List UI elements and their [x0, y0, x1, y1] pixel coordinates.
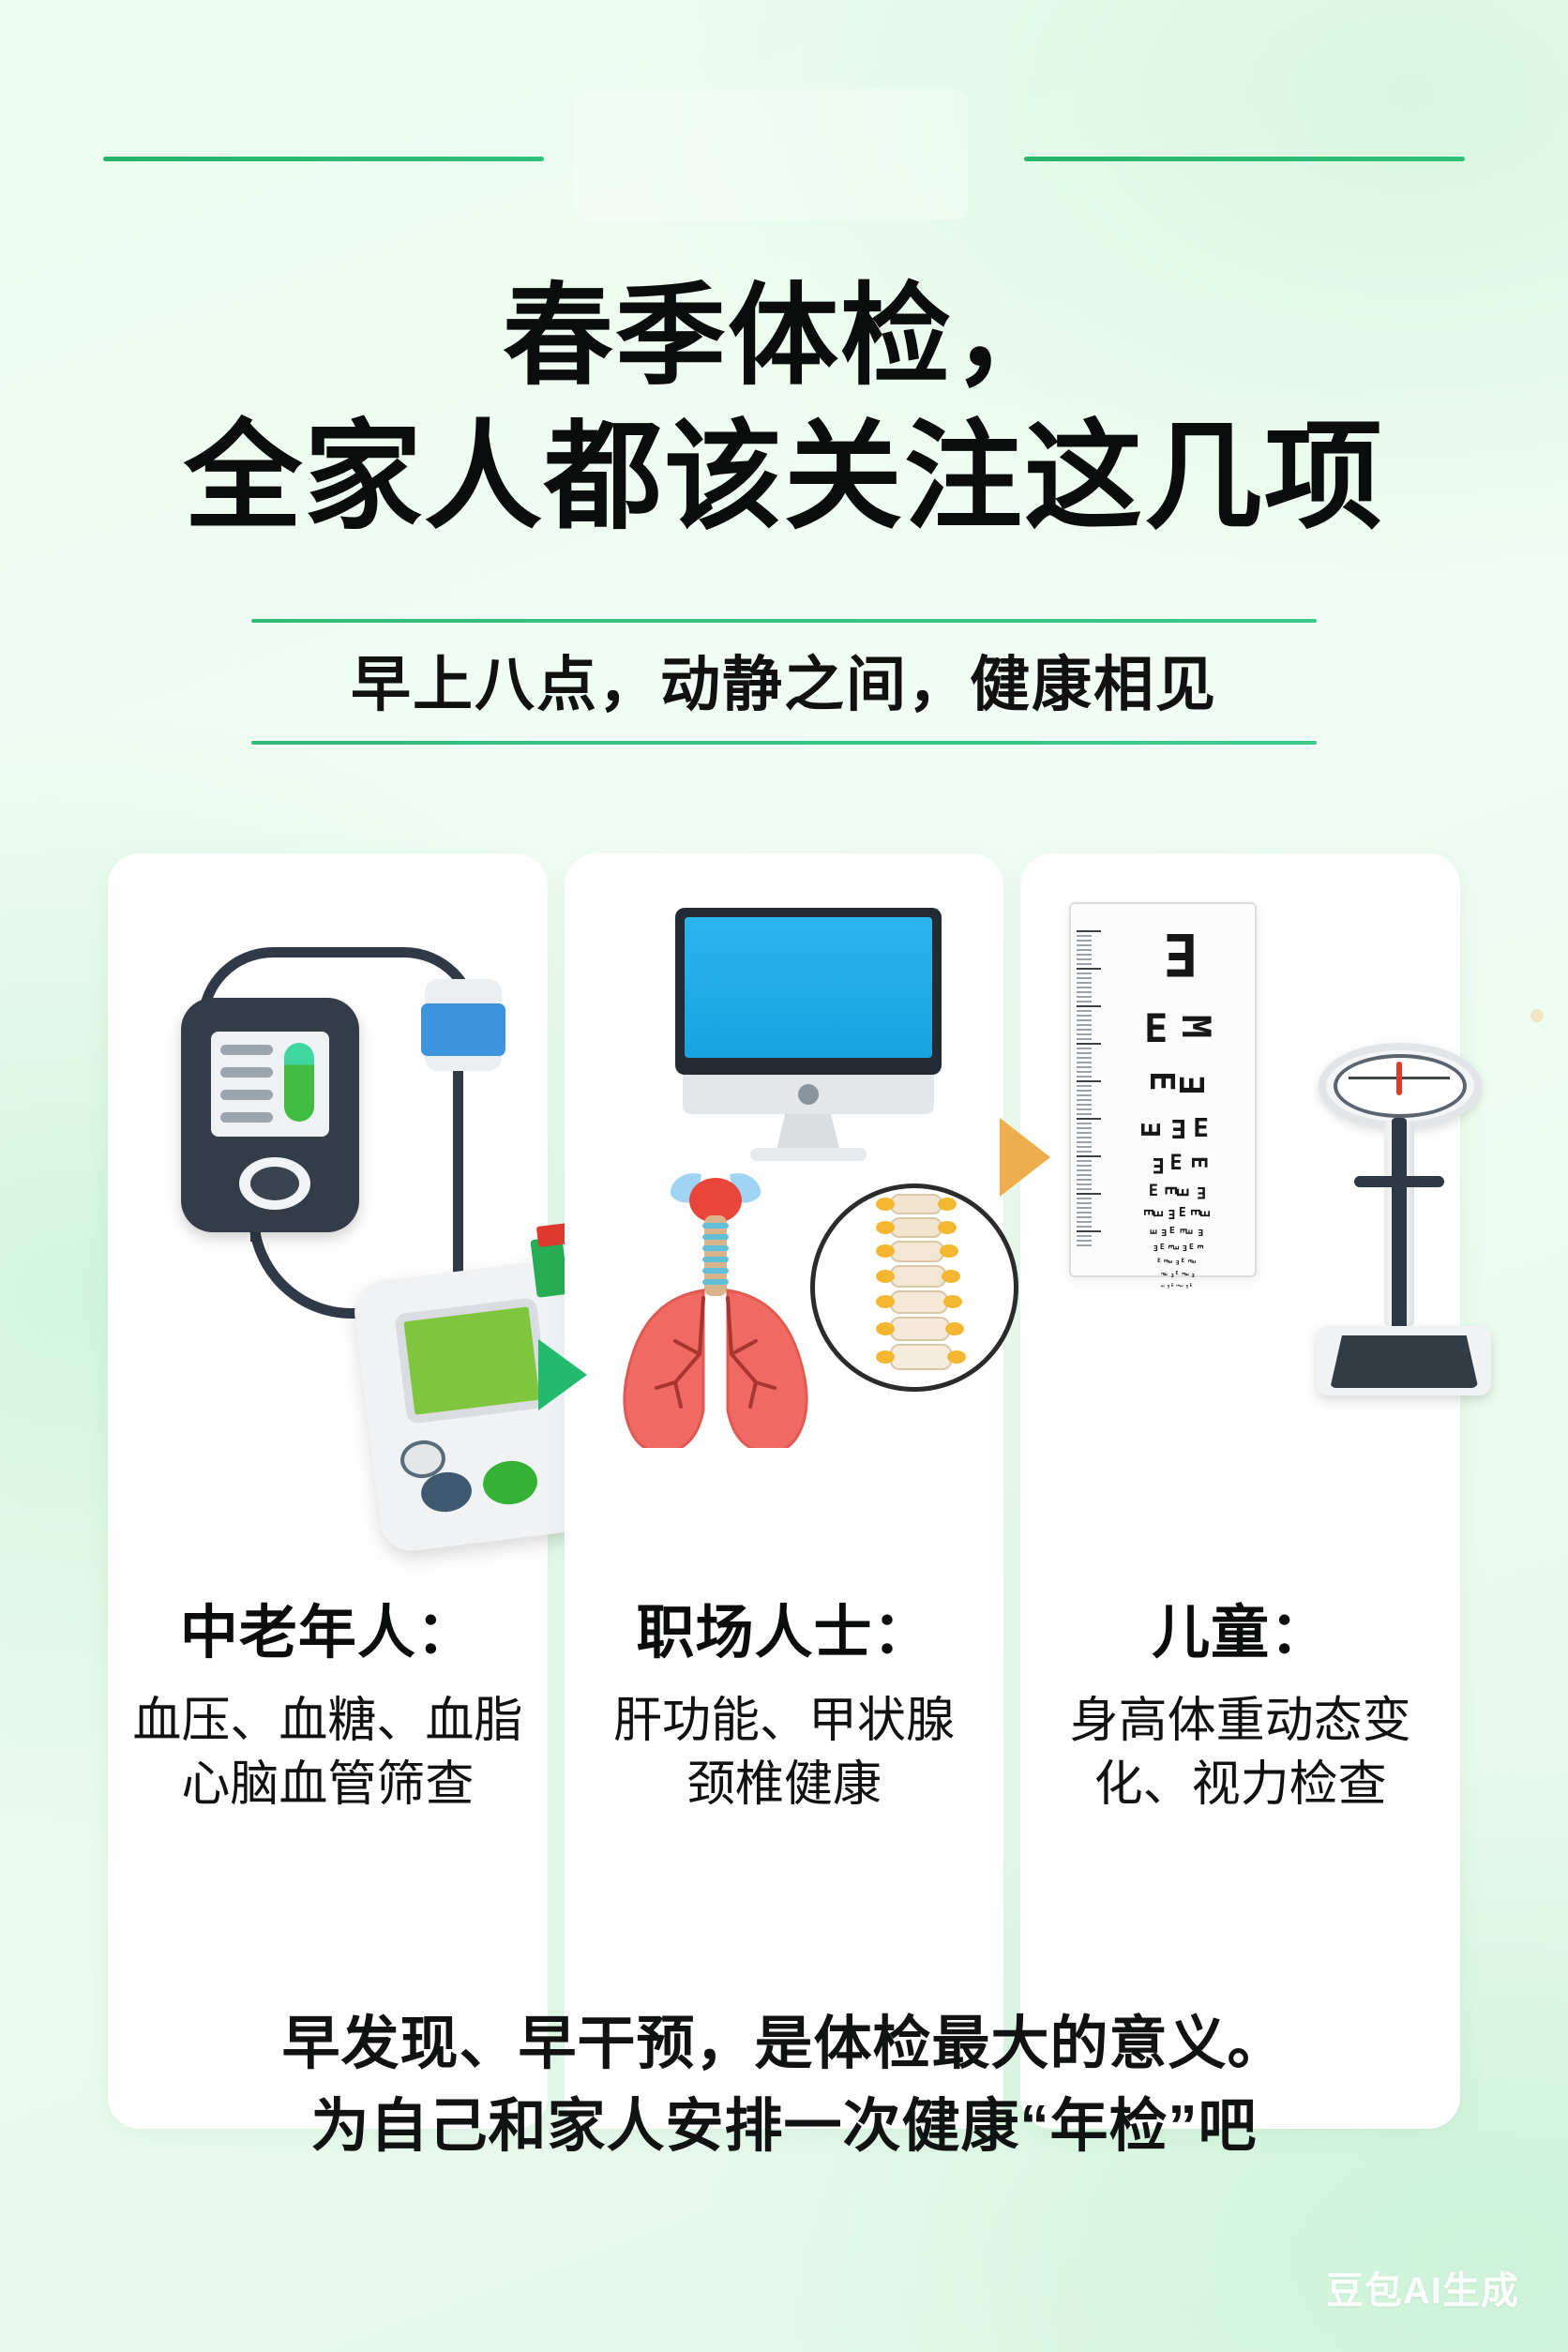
- scale-rod-icon: [1392, 1118, 1407, 1334]
- monitor-stand-icon: [776, 1114, 840, 1152]
- spine-icon: [846, 1193, 987, 1385]
- card-children-body-line-2: 化、视力检查: [1070, 1754, 1411, 1817]
- eye-chart-row: EM: [1107, 1009, 1247, 1048]
- decorative-dot: [1530, 1009, 1544, 1022]
- bp-reading-line-1-icon: [220, 1045, 273, 1055]
- footer-text: 早发现、早干预，是体检最大的意义。 为自己和家人安排一次健康“年检”吧: [0, 2003, 1568, 2168]
- title-line-2: 全家人都该关注这几项: [0, 405, 1568, 550]
- card-row: 中老年人： 血压、血糖、血脂 心脑血管筛查: [108, 853, 1460, 2129]
- card-children-body: 身高体重动态变 化、视力检查: [1055, 1690, 1426, 1817]
- bp-cuff-band-icon: [421, 1003, 505, 1056]
- eye-chart-row: EEEEEEE: [1107, 1244, 1247, 1251]
- monitor-base-icon: [750, 1148, 867, 1161]
- card-office-workers[interactable]: 职场人士： 肝功能、甲状腺 颈椎健康: [565, 853, 1004, 2129]
- eye-chart-row: EEEE: [1107, 1184, 1247, 1199]
- page-title: 春季体检， 全家人都该关注这几项: [0, 270, 1568, 550]
- scale-crossbar-icon: [1354, 1176, 1444, 1187]
- poster-root: 春季体检， 全家人都该关注这几项 早上八点，动静之间，健康相见: [0, 0, 1568, 2352]
- eye-chart-row: EEEEEE: [1107, 1227, 1247, 1236]
- eye-chart-row: EEEEEE: [1107, 1207, 1247, 1219]
- eye-chart-row: EE: [1107, 1066, 1247, 1100]
- lungs-icon: [598, 1167, 833, 1448]
- card-seniors-body: 血压、血糖、血脂 心脑血管筛查: [117, 1690, 537, 1817]
- card-seniors-artwork: [108, 867, 548, 1607]
- card-seniors-body-line-1: 血压、血糖、血脂: [132, 1690, 522, 1754]
- eye-chart-row: EEE: [1107, 1153, 1247, 1174]
- monitor-logo-icon: [798, 1084, 819, 1105]
- card-seniors-body-line-2: 心脑血管筛查: [132, 1754, 522, 1817]
- title-line-1: 春季体检，: [503, 275, 1065, 399]
- subtitle-text: 早上八点，动静之间，健康相见: [251, 623, 1317, 741]
- bp-reading-line-4-icon: [220, 1112, 273, 1123]
- card-office-workers-body: 肝功能、甲状腺 颈椎健康: [598, 1690, 970, 1817]
- card-children-body-line-1: 身高体重动态变: [1070, 1690, 1411, 1754]
- bp-reading-line-2-icon: [220, 1067, 273, 1078]
- card-children-artwork: EEMEEEEEEEEEEEEEEEEEEEEEEEEEEEEEEEEEEEEE…: [1020, 867, 1460, 1607]
- eye-chart-row: EEE: [1107, 1115, 1247, 1141]
- card-seniors-heading: 中老年人：: [180, 1602, 475, 1666]
- scale-platform-icon: [1330, 1335, 1478, 1388]
- arrow-card2-to-card3: [1000, 1118, 1050, 1197]
- header-rule-right: [1024, 157, 1465, 161]
- header-plate: [574, 89, 968, 220]
- subtitle-rule-bottom: [251, 741, 1317, 745]
- card-office-workers-artwork: [565, 867, 1004, 1607]
- monitor-screen-icon: [685, 917, 932, 1058]
- card-children[interactable]: EEMEEEEEEEEEEEEEEEEEEEEEEEEEEEEEEEEEEEEE…: [1020, 853, 1460, 2129]
- arrow-card1-to-card2: [538, 1339, 587, 1410]
- glucose-meter-screen-icon: [394, 1297, 549, 1425]
- bp-reading-line-3-icon: [220, 1090, 273, 1100]
- bp-power-button-inner-icon: [250, 1167, 299, 1200]
- bp-level-gauge-icon: [284, 1043, 314, 1122]
- card-office-workers-heading: 职场人士：: [637, 1602, 932, 1666]
- footer-line-2: 为自己和家人安排一次健康“年检”吧: [0, 2086, 1568, 2168]
- eye-chart-row: EEEEEEE: [1107, 1284, 1247, 1288]
- card-children-heading: 儿童：: [1152, 1602, 1329, 1666]
- card-office-workers-body-line-2: 颈椎健康: [613, 1754, 955, 1817]
- scale-needle-icon: [1396, 1062, 1402, 1095]
- watermark-label: 豆包AI生成: [1326, 2260, 1519, 2314]
- subtitle-block: 早上八点，动静之间，健康相见: [251, 619, 1317, 745]
- eye-chart-row: EEEEEEE: [1107, 1259, 1247, 1264]
- eye-chart-row: E: [1107, 925, 1247, 983]
- footer-line-1: 早发现、早干预，是体检最大的意义。: [0, 2003, 1568, 2086]
- card-office-workers-body-line-1: 肝功能、甲状腺: [613, 1690, 955, 1754]
- card-seniors[interactable]: 中老年人： 血压、血糖、血脂 心脑血管筛查: [108, 853, 548, 2129]
- eye-chart-row: EEEEEEE: [1107, 1272, 1247, 1276]
- header-rule-left: [103, 157, 544, 161]
